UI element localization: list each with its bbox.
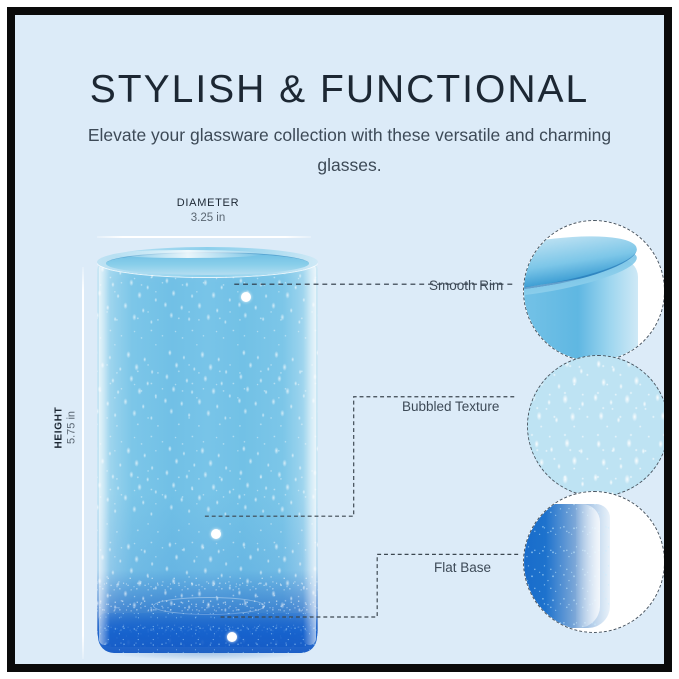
height-label: HEIGHT (54, 388, 66, 468)
height-value: 5.75 in (66, 388, 79, 468)
marker-dot-bubbled-texture (211, 529, 221, 539)
diameter-label: DIAMETER (133, 197, 283, 209)
glass-rim-highlight (113, 250, 263, 258)
marker-dot-flat-base (227, 632, 237, 642)
height-measure-line (82, 267, 84, 659)
poster-canvas: STYLISH & FUNCTIONAL Elevate your glassw… (15, 15, 664, 664)
detail-circle-bubbled-texture (527, 355, 669, 497)
page-title: STYLISH & FUNCTIONAL (15, 68, 664, 112)
callout-label-flat-base: Flat Base (434, 560, 491, 575)
callout-label-smooth-rim: Smooth Rim (429, 278, 503, 293)
detail-circle-smooth-rim (523, 220, 665, 362)
detail-base-edge-highlight (576, 504, 600, 628)
detail-circle-flat-base (523, 491, 665, 633)
poster-border: STYLISH & FUNCTIONAL Elevate your glassw… (7, 7, 672, 672)
detail-bubble-pattern (528, 356, 668, 496)
poster-frame: STYLISH & FUNCTIONAL Elevate your glassw… (0, 0, 679, 679)
glass-right-highlight (303, 263, 316, 645)
product-glass-image (97, 247, 318, 661)
marker-dot-smooth-rim (241, 292, 251, 302)
diameter-measure-line (97, 236, 311, 238)
diameter-value: 3.25 in (133, 212, 283, 224)
glass-base-shadow (105, 646, 310, 660)
callout-label-bubbled-texture: Bubbled Texture (402, 399, 499, 414)
glass-left-highlight (99, 263, 110, 645)
page-subtitle: Elevate your glassware collection with t… (77, 120, 622, 180)
